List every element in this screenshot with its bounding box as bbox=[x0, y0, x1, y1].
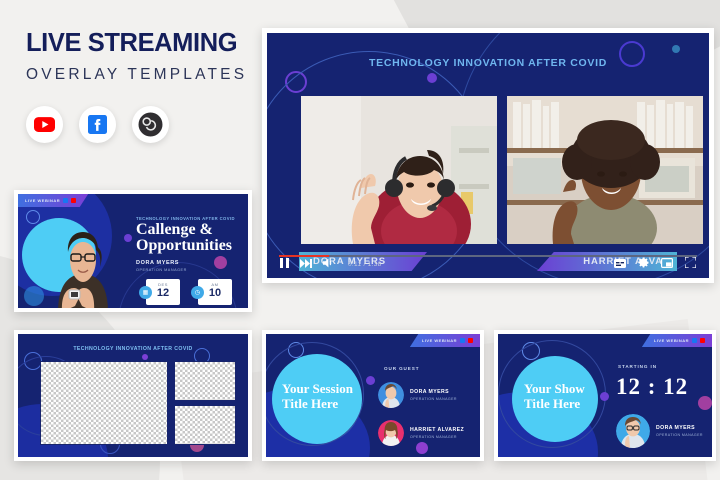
challenge-title-line2: Opportunities bbox=[136, 238, 232, 254]
session-title: Your Session Title Here bbox=[282, 382, 377, 411]
challenge-title-line1: Callenge & bbox=[136, 222, 232, 238]
presenter-photo bbox=[40, 226, 126, 308]
facebook-icon bbox=[692, 338, 697, 343]
decor-ring bbox=[26, 210, 40, 224]
starting-in-label: STARTING IN bbox=[618, 364, 657, 369]
hero-screen: TECHNOLOGY INNOVATION AFTER COVID bbox=[267, 33, 709, 278]
hero-player-card: TECHNOLOGY INNOVATION AFTER COVID bbox=[262, 28, 714, 283]
image-placeholder-bottom[interactable] bbox=[174, 405, 236, 445]
headline-block: LIVE STREAMING OVERLAY TEMPLATES bbox=[26, 30, 256, 143]
youtube-icon[interactable] bbox=[26, 106, 63, 143]
avatar bbox=[378, 420, 404, 446]
avatar bbox=[616, 414, 650, 448]
miniplayer-button[interactable] bbox=[661, 255, 673, 273]
show-title: Your Show Title Here bbox=[524, 382, 612, 411]
youtube-icon bbox=[700, 338, 705, 343]
youtube-icon bbox=[71, 198, 76, 203]
hero-title: TECHNOLOGY INNOVATION AFTER COVID bbox=[267, 57, 709, 69]
pause-button[interactable] bbox=[280, 255, 289, 273]
live-webinar-badge: LIVE WEBINAR bbox=[642, 334, 712, 347]
session-title-line2: Title Here bbox=[282, 397, 377, 412]
template-card-placeholders[interactable]: TECHNOLOGY INNOVATION AFTER COVID bbox=[14, 330, 252, 461]
guest-name: HARRIET ALVAREZ bbox=[410, 427, 464, 433]
volume-button[interactable] bbox=[323, 255, 334, 273]
guest-row: HARRIET ALVAREZ OPERATION MANAGER bbox=[378, 420, 464, 446]
decor-dot bbox=[672, 45, 680, 53]
guest-row: DORA MYERS OPERATION MANAGER bbox=[378, 382, 457, 408]
our-guest-label: OUR GUEST bbox=[384, 366, 419, 371]
settings-button[interactable] bbox=[638, 255, 649, 273]
decor-dot bbox=[698, 396, 712, 410]
time-chip: ◷ AM 10 bbox=[198, 279, 232, 305]
guest-role: OPERATION MANAGER bbox=[410, 435, 464, 439]
next-button[interactable] bbox=[300, 255, 312, 273]
live-webinar-badge: LIVE WEBINAR bbox=[410, 334, 480, 347]
image-placeholder-top[interactable] bbox=[174, 361, 236, 401]
live-webinar-label: LIVE WEBINAR bbox=[654, 338, 689, 343]
host-role: OPERATION MANAGER bbox=[656, 433, 703, 437]
template-placeholders-title: TECHNOLOGY INNOVATION AFTER COVID bbox=[18, 346, 248, 352]
template-card-session[interactable]: LIVE WEBINAR Your Session Title Here OUR… bbox=[262, 330, 484, 461]
host-row: DORA MYERS OPERATION MANAGER bbox=[616, 414, 703, 448]
template-challenge-screen: LIVE WEBINAR TECHNOLOGY INNOVATION AFTER… bbox=[18, 194, 248, 308]
decor-dot bbox=[214, 256, 227, 269]
template-placeholders-screen: TECHNOLOGY INNOVATION AFTER COVID bbox=[18, 334, 248, 457]
player-controls-right bbox=[614, 255, 696, 273]
page-subtitle: OVERLAY TEMPLATES bbox=[26, 66, 256, 84]
host-name: DORA MYERS bbox=[656, 425, 703, 431]
video-tile-speaker-1[interactable] bbox=[301, 96, 497, 244]
show-title-line2: Title Here bbox=[524, 397, 612, 412]
subtitles-button[interactable] bbox=[614, 255, 626, 273]
avatar bbox=[378, 382, 404, 408]
calendar-icon: ▦ bbox=[139, 286, 152, 299]
live-webinar-label: LIVE WEBINAR bbox=[25, 198, 60, 203]
template-countdown-screen: LIVE WEBINAR Your Show Title Here STARTI… bbox=[498, 334, 712, 457]
guest-name: DORA MYERS bbox=[410, 389, 457, 395]
player-controls: 0:11 / 1:38 bbox=[267, 254, 709, 274]
obs-icon[interactable] bbox=[132, 106, 169, 143]
countdown-timer: 12 : 12 bbox=[616, 374, 688, 400]
page-title: LIVE STREAMING bbox=[26, 30, 256, 57]
session-title-line1: Your Session bbox=[282, 382, 377, 397]
clock-icon: ◷ bbox=[191, 286, 204, 299]
decor-dot bbox=[142, 354, 148, 360]
facebook-icon bbox=[460, 338, 465, 343]
template-challenge-title: Callenge & Opportunities bbox=[136, 222, 232, 255]
date-chip: ▦ DES 12 bbox=[146, 279, 180, 305]
live-webinar-badge: LIVE WEBINAR bbox=[18, 194, 88, 207]
show-title-line1: Your Show bbox=[524, 382, 612, 397]
template-challenge-speaker-role: OPERATION MANAGER bbox=[136, 268, 187, 272]
guest-role: OPERATION MANAGER bbox=[410, 397, 457, 401]
template-card-countdown[interactable]: LIVE WEBINAR Your Show Title Here STARTI… bbox=[494, 330, 716, 461]
social-icon-row bbox=[26, 106, 256, 143]
template-session-screen: LIVE WEBINAR Your Session Title Here OUR… bbox=[266, 334, 480, 457]
image-placeholder-main[interactable] bbox=[40, 361, 168, 445]
youtube-icon bbox=[468, 338, 473, 343]
facebook-icon[interactable] bbox=[79, 106, 116, 143]
time-display: 0:11 / 1:38 bbox=[348, 261, 382, 268]
decor-dot bbox=[427, 73, 437, 83]
facebook-icon bbox=[63, 198, 68, 203]
fullscreen-button[interactable] bbox=[685, 255, 696, 273]
live-webinar-label: LIVE WEBINAR bbox=[422, 338, 457, 343]
template-challenge-speaker-name: DORA MYERS bbox=[136, 260, 179, 266]
video-tile-speaker-2[interactable] bbox=[507, 96, 703, 244]
template-card-challenge[interactable]: LIVE WEBINAR TECHNOLOGY INNOVATION AFTER… bbox=[14, 190, 252, 312]
